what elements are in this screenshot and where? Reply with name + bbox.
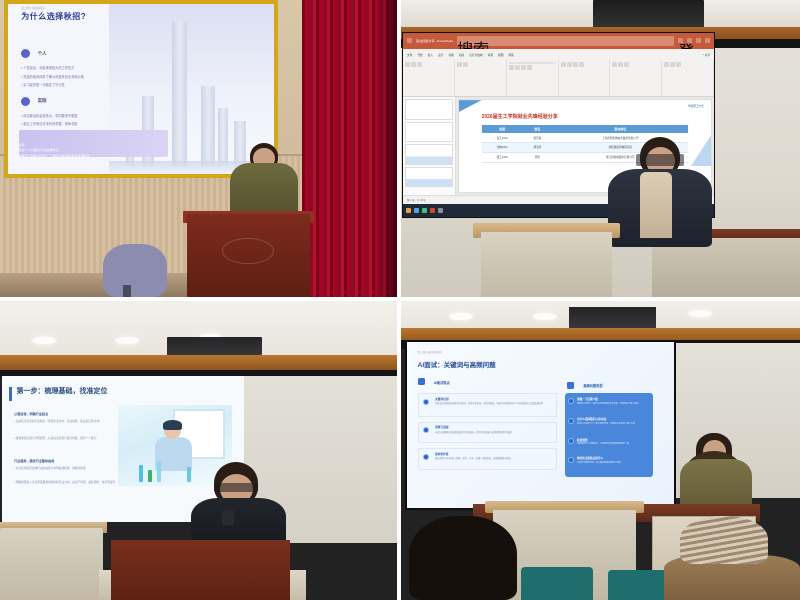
align-center-icon[interactable]	[579, 62, 584, 67]
ribbon-group-paragraph[interactable]	[559, 60, 611, 96]
left-column-header: AI面试特点	[434, 380, 450, 385]
university-logo: 华南理工大学	[688, 104, 704, 108]
photo-bottom-right: 第三部分 面试准备技巧 AI面试：关键词与高频问题 AI面试特点 关键词识别 系…	[401, 301, 800, 600]
section-bullet: • 个性契合、对能承受较大的工作压力	[21, 66, 84, 71]
microphone-icon	[222, 510, 234, 525]
tab-slideshow[interactable]: 幻灯片放映	[469, 53, 482, 57]
group-bullet: • 主动结合自身的行业特点（所需企业方向、专业技能、职业出口等方向）	[14, 420, 121, 424]
slide-thumbnail[interactable]	[405, 99, 453, 120]
card-bullet-icon	[423, 399, 429, 405]
audience-member	[409, 516, 517, 600]
feature-card: 关键词识别 系统会自动抓取回答中的关键词，包括专业术语、岗位匹配度，回答中多使用…	[418, 393, 557, 416]
layout-icon[interactable]	[463, 62, 468, 67]
ribbon	[403, 60, 714, 97]
bullets-icon[interactable]	[561, 62, 566, 67]
close-icon[interactable]	[705, 38, 710, 43]
ribbon-group-drawing[interactable]	[610, 60, 662, 96]
item-bullet-icon	[568, 457, 574, 463]
cell-name: 周浩	[523, 152, 552, 162]
slide-section-practical: 实际 • 岗位释出机会较多大、学历要求不明显 • 相比工作岗位可本科有重要、竞争…	[21, 92, 77, 127]
item-bullet-icon	[568, 418, 574, 424]
italic-icon[interactable]	[515, 65, 520, 70]
column-header-class: 班级	[482, 125, 523, 133]
section-badge-icon	[21, 97, 30, 106]
chair-leg	[123, 285, 131, 297]
powerpoint-title-bar: 就业经验分享 - PowerPoint 搜索 登录	[403, 33, 714, 50]
title-accent-bar	[9, 387, 11, 400]
select-icon[interactable]	[676, 62, 681, 67]
tab-view[interactable]: 视图	[498, 53, 503, 57]
card-bullet-icon	[423, 427, 429, 433]
item-body: 优点结合案例说明，缺点需说明改进措施与进展	[577, 462, 649, 465]
tab-design[interactable]: 设计	[438, 53, 443, 57]
maximize-icon[interactable]	[696, 38, 701, 43]
slide-thumbnail[interactable]	[405, 167, 453, 188]
lectern	[111, 540, 290, 600]
cell-name: 郝宝婷	[523, 142, 552, 152]
align-left-icon[interactable]	[573, 62, 578, 67]
slide-corner-decoration	[459, 100, 482, 112]
photo-collage: 第二部分 秋招的意义 为什么选择秋招? 个人 • 个性契合、对能承受较大的工作压…	[0, 0, 800, 600]
item-bullet-icon	[568, 398, 574, 404]
card-bullet-icon	[423, 454, 429, 460]
group-heading: 行业趋势，确定行业整体格局	[14, 458, 54, 463]
column-header-name: 姓名	[523, 125, 552, 133]
tab-help[interactable]: 帮助	[508, 53, 513, 57]
section-bullet: • 相比工作岗位可本科有重要、竞争总部	[21, 122, 77, 127]
lectern-emblem-icon	[222, 238, 274, 265]
photo-top-left: 第二部分 秋招的意义 为什么选择秋招? 个人 • 个性契合、对能承受较大的工作压…	[0, 0, 397, 297]
underline-icon[interactable]	[521, 65, 526, 70]
card-title: 表情与语速	[435, 425, 448, 429]
projection-screen: 第二部分 秋招的意义 为什么选择秋招? 个人 • 个性契合、对能承受较大的工作压…	[8, 4, 274, 174]
tab-home[interactable]: 开始	[417, 53, 422, 57]
ribbon-group-clipboard[interactable]	[403, 60, 455, 96]
right-column-header: 高频问题类型	[583, 383, 602, 388]
slide-counter: 第 4 张，共 18 张	[407, 198, 426, 202]
card-title: 关键词识别	[435, 397, 448, 401]
slide-thumbnail[interactable]	[405, 122, 453, 143]
note-line: 明确自己的职业目标，了解行业前沿和未来发展趋势	[19, 154, 173, 159]
eyeglasses-icon	[214, 483, 258, 492]
section-bullet: • 实习经历是一次稳定了可行性	[21, 83, 84, 88]
explorer-icon[interactable]	[414, 208, 419, 213]
ribbon-tab-bar: 文件 开始 插入 设计 切换 动画 幻灯片放映 审阅 视图 帮助 ^ 共享	[403, 49, 714, 60]
cell-name: 黄芳丽	[523, 133, 552, 142]
cut-icon[interactable]	[411, 62, 416, 67]
ribbon-group-slides[interactable]	[455, 60, 507, 96]
section-bullet: • 完善的培训体系了解公司更多的业务和价值	[21, 75, 84, 80]
new-slide-icon[interactable]	[457, 62, 462, 67]
shapes-icon[interactable]	[612, 62, 617, 67]
group-bullet: • 明确想要进入企业里面要求的职位和行业方向，如生产管理、品控质检、技术研发等	[14, 481, 121, 485]
slide-title: AI面试：关键词与高频问题	[418, 359, 496, 369]
paste-icon[interactable]	[405, 62, 410, 67]
minimize-icon[interactable]	[687, 38, 692, 43]
bold-icon[interactable]	[509, 65, 514, 70]
item-body: 说明短期与中长期目标，与应聘岗位的发展路径保持一致	[577, 443, 649, 446]
browser-icon[interactable]	[438, 208, 443, 213]
card-body: AI会记录眼神交流和语速变化的评估指标，保持平稳语速与自然微笑有利于结果	[435, 432, 551, 435]
column-header-company: 意向单位	[552, 125, 688, 133]
card-body: 系统会自动抓取回答中的关键词，包括专业术语、岗位匹配度，回答中多使用岗位JD中的…	[435, 403, 551, 406]
section-label: 实际	[38, 98, 47, 103]
item-title: 职业规划	[577, 438, 587, 442]
section-label: 个人	[38, 51, 47, 56]
item-body: 控制在1分钟内，突出与岗位匹配的专业背景、实践经历与核心优势	[577, 403, 649, 406]
tab-insert[interactable]: 插入	[428, 53, 433, 57]
copy-icon[interactable]	[417, 62, 422, 67]
find-icon[interactable]	[664, 62, 669, 67]
section-bullet: • 岗位释出机会较多大、学历要求不明显	[21, 114, 77, 119]
speaker-shirt	[640, 172, 672, 237]
cell-class: 生物2201	[482, 142, 523, 152]
question-panel: 请做一下自我介绍 控制在1分钟内，突出与岗位匹配的专业背景、实践经历与核心优势 …	[565, 393, 653, 476]
font-color-icon[interactable]	[527, 65, 532, 70]
stage-desk	[652, 238, 800, 297]
column-icon	[418, 378, 425, 385]
group-bullet: • 关注近年医药生物行业的政策与市场发展趋势，把握新机会	[14, 467, 121, 471]
ceiling-speaker	[593, 0, 705, 30]
save-icon[interactable]	[407, 38, 412, 43]
slide-why-autumn-recruitment: 第二部分 秋招的意义 为什么选择秋招? 个人 • 个性契合、对能承受较大的工作压…	[8, 4, 274, 174]
tab-review[interactable]: 审阅	[488, 53, 493, 57]
item-bullet-icon	[568, 438, 574, 444]
item-title: 请做一下自我介绍	[577, 397, 598, 401]
group-bullet: • 梳理课程实践与学历经历，认清自身优势与能力短板，提升个人能力	[14, 437, 121, 441]
tab-animations[interactable]: 动画	[459, 53, 464, 57]
feature-card: 结构化作答 建议采用STAR法则（情境、任务、行动、结果）组织答案，逻辑清晰得分…	[418, 448, 557, 470]
lectern	[481, 232, 613, 297]
tab-transitions[interactable]: 切换	[448, 53, 453, 57]
replace-icon[interactable]	[670, 62, 675, 67]
cell-class: 轻工2203	[482, 152, 523, 162]
section-badge-icon	[21, 49, 30, 58]
start-icon[interactable]	[406, 208, 411, 213]
slide-side-decoration	[691, 135, 711, 166]
knit-hat-icon	[680, 516, 768, 564]
projection-screen-frame: 第二部分 秋招的意义 为什么选择秋招? 个人 • 个性契合、对能承受较大的工作压…	[4, 0, 278, 178]
font-name-box[interactable]	[509, 62, 556, 64]
table-header-row: 班级 姓名 意向单位	[482, 125, 689, 133]
slide-title: 为什么选择秋招?	[21, 11, 86, 22]
arrange-icon[interactable]	[618, 62, 623, 67]
chair	[103, 244, 167, 297]
photo-bottom-left: 第一步：梳理基础，找准定位 认清自我，明确行业起点 • 主动结合自身的行业特点（…	[0, 301, 397, 600]
projection-screen: 第三部分 面试准备技巧 AI面试：关键词与高频问题 AI面试特点 关键词识别 系…	[407, 342, 674, 508]
feature-card: 表情与语速 AI会记录眼神交流和语速变化的评估指标，保持平稳语速与自然微笑有利于…	[418, 422, 557, 444]
group-heading: 认清自我，明确行业起点	[14, 411, 48, 416]
slide-thumbnail[interactable]	[405, 144, 453, 165]
photo-top-right: 就业经验分享 - PowerPoint 搜索 登录 文件 开始 插入 设计 切换…	[401, 0, 800, 297]
ribbon-group-font[interactable]	[507, 60, 559, 96]
slide-title: 第一步：梳理基础，找准定位	[17, 386, 108, 396]
share-button[interactable]: ^ 共享	[703, 53, 710, 57]
slide-section-personal: 个人 • 个性契合、对能承受较大的工作压力 • 完善的培训体系了解公司更多的业务…	[21, 45, 84, 88]
eyeglasses-icon	[636, 154, 684, 166]
powerpoint-taskbar-icon[interactable]	[430, 208, 435, 213]
numbering-icon[interactable]	[567, 62, 572, 67]
slide-note-text: 思考 结合个人兴趣与行业发展特点， 明确自己的职业目标，了解行业前沿和未来发展趋…	[19, 143, 173, 159]
projection-screen-frame: 第三部分 面试准备技巧 AI面试：关键词与高频问题 AI面试特点 关键词识别 系…	[405, 340, 676, 510]
card-title: 结构化作答	[435, 452, 448, 456]
cell-class: 生工2202	[482, 133, 523, 142]
wechat-icon[interactable]	[422, 208, 427, 213]
slide-eyebrow: 第二部分 秋招的意义	[21, 6, 45, 10]
wood-trim	[0, 355, 397, 370]
slide-title: 2026届生工学院就业先锋经验分享	[482, 113, 558, 120]
tab-file[interactable]: 文件	[407, 53, 412, 57]
item-title: 你的优点和缺点是什么	[577, 456, 603, 460]
slide-eyebrow: 第三部分 面试准备技巧	[418, 350, 443, 354]
window-title: 就业经验分享 - PowerPoint	[416, 38, 453, 43]
item-body: 结合公司业务与个人职业规划作答，体现你对企业的了解与认同	[577, 423, 649, 426]
item-title: 为什么选择我们公司/岗位	[577, 417, 606, 421]
ribbon-group-editing[interactable]	[662, 60, 714, 96]
card-body: 建议采用STAR法则（情境、任务、行动、结果）组织答案，逻辑清晰得分更高	[435, 458, 551, 461]
quick-styles-icon[interactable]	[624, 62, 629, 67]
audience-seat	[521, 567, 593, 600]
slide-thumbnail-pane[interactable]	[403, 97, 456, 195]
signin-button[interactable]: 登录	[678, 38, 683, 43]
curtain-shadow	[377, 0, 397, 297]
side-cabinet	[0, 528, 103, 600]
column-icon	[567, 382, 574, 389]
search-input[interactable]: 搜索	[457, 36, 674, 46]
